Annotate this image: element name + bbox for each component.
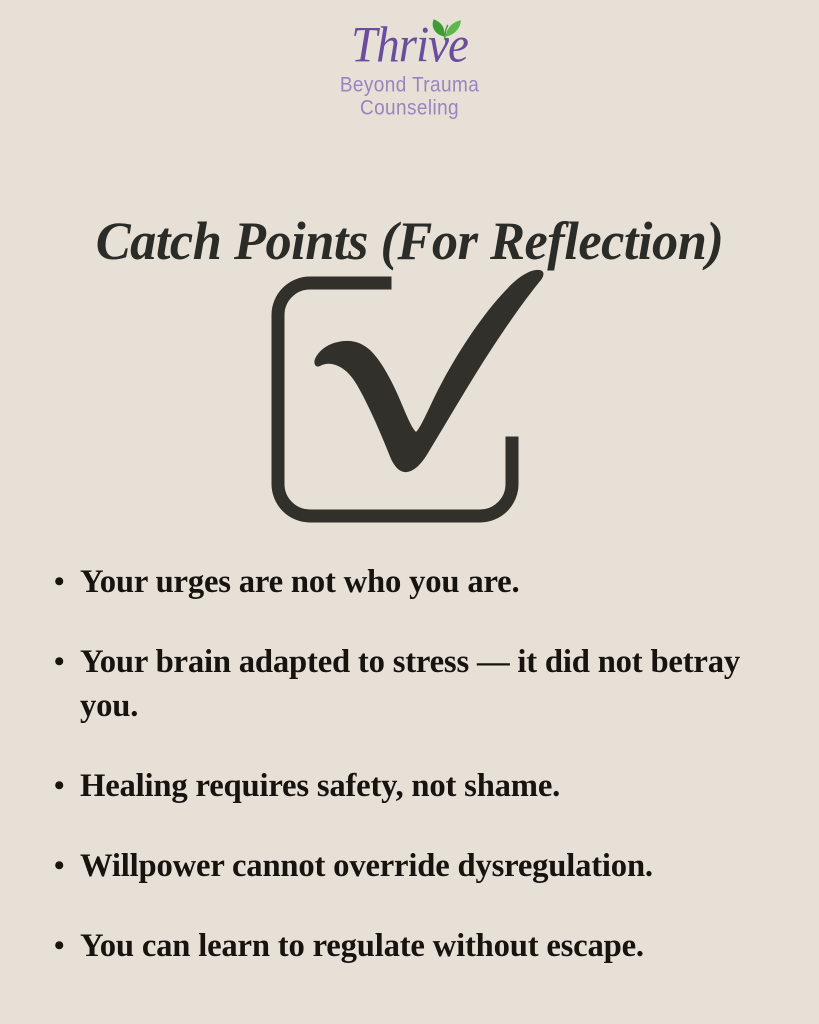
logo-tagline-line1: Beyond Trauma <box>340 74 479 97</box>
list-item: • Healing requires safety, not shame. <box>54 764 784 808</box>
bullet-marker: • <box>54 844 80 888</box>
reflection-bullet-list: • Your urges are not who you are. • Your… <box>54 560 784 968</box>
logo-wordmark-group: Thrive <box>310 16 510 74</box>
list-item-text: You can learn to regulate without escape… <box>80 924 777 968</box>
list-item-text: Your brain adapted to stress — it did no… <box>80 640 777 728</box>
list-item-text: Healing requires safety, not shame. <box>80 764 777 808</box>
bullet-marker: • <box>54 764 80 808</box>
list-item: • Your brain adapted to stress — it did … <box>54 640 784 728</box>
poster-canvas: Thrive Beyond Trauma Counseling Catch Po… <box>0 0 819 1024</box>
checkbox-checked-icon <box>250 262 570 537</box>
list-item: • You can learn to regulate without esca… <box>54 924 784 968</box>
list-item: • Your urges are not who you are. <box>54 560 784 604</box>
logo-tagline: Beyond Trauma Counseling <box>340 74 479 120</box>
brand-logo: Thrive Beyond Trauma Counseling <box>0 16 819 136</box>
bullet-marker: • <box>54 924 80 968</box>
list-item-text: Willpower cannot override dysregulation. <box>80 844 777 888</box>
list-item-text: Your urges are not who you are. <box>80 560 777 604</box>
bullet-marker: • <box>54 560 80 604</box>
logo-tagline-line2: Counseling <box>340 97 479 120</box>
logo-wordmark: Thrive <box>310 16 510 74</box>
bullet-marker: • <box>54 640 80 684</box>
list-item: • Willpower cannot override dysregulatio… <box>54 844 784 888</box>
